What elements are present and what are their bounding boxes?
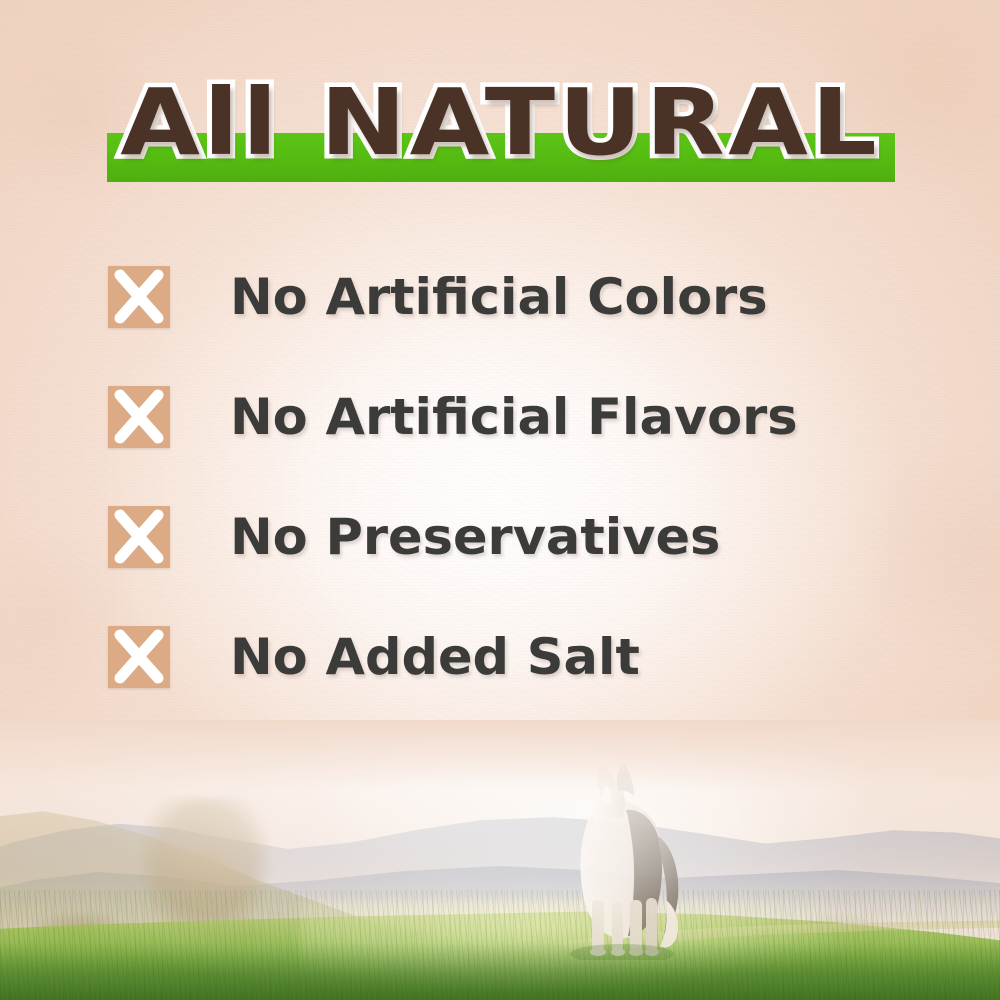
list-item-label: No Preservatives	[230, 500, 720, 574]
list-item: No Preservatives	[108, 506, 928, 626]
x-mark-icon	[108, 506, 170, 568]
list-item: No Artificial Colors	[108, 266, 928, 386]
x-mark-icon	[108, 626, 170, 688]
benefits-checklist: No Artificial Colors No Artificial Flavo…	[108, 266, 928, 746]
x-mark-icon	[108, 266, 170, 328]
poster: All NATURAL No Artificial Colors No Arti…	[0, 0, 1000, 1000]
page-title: All NATURAL	[0, 68, 1000, 178]
landscape-photo	[0, 720, 1000, 1000]
list-item-label: No Added Salt	[230, 620, 640, 694]
x-mark-icon	[108, 386, 170, 448]
list-item-label: No Artificial Colors	[230, 260, 768, 334]
list-item: No Artificial Flavors	[108, 386, 928, 506]
list-item: No Added Salt	[108, 626, 928, 746]
list-item-label: No Artificial Flavors	[230, 380, 798, 454]
page-title-text: All NATURAL	[120, 77, 880, 169]
